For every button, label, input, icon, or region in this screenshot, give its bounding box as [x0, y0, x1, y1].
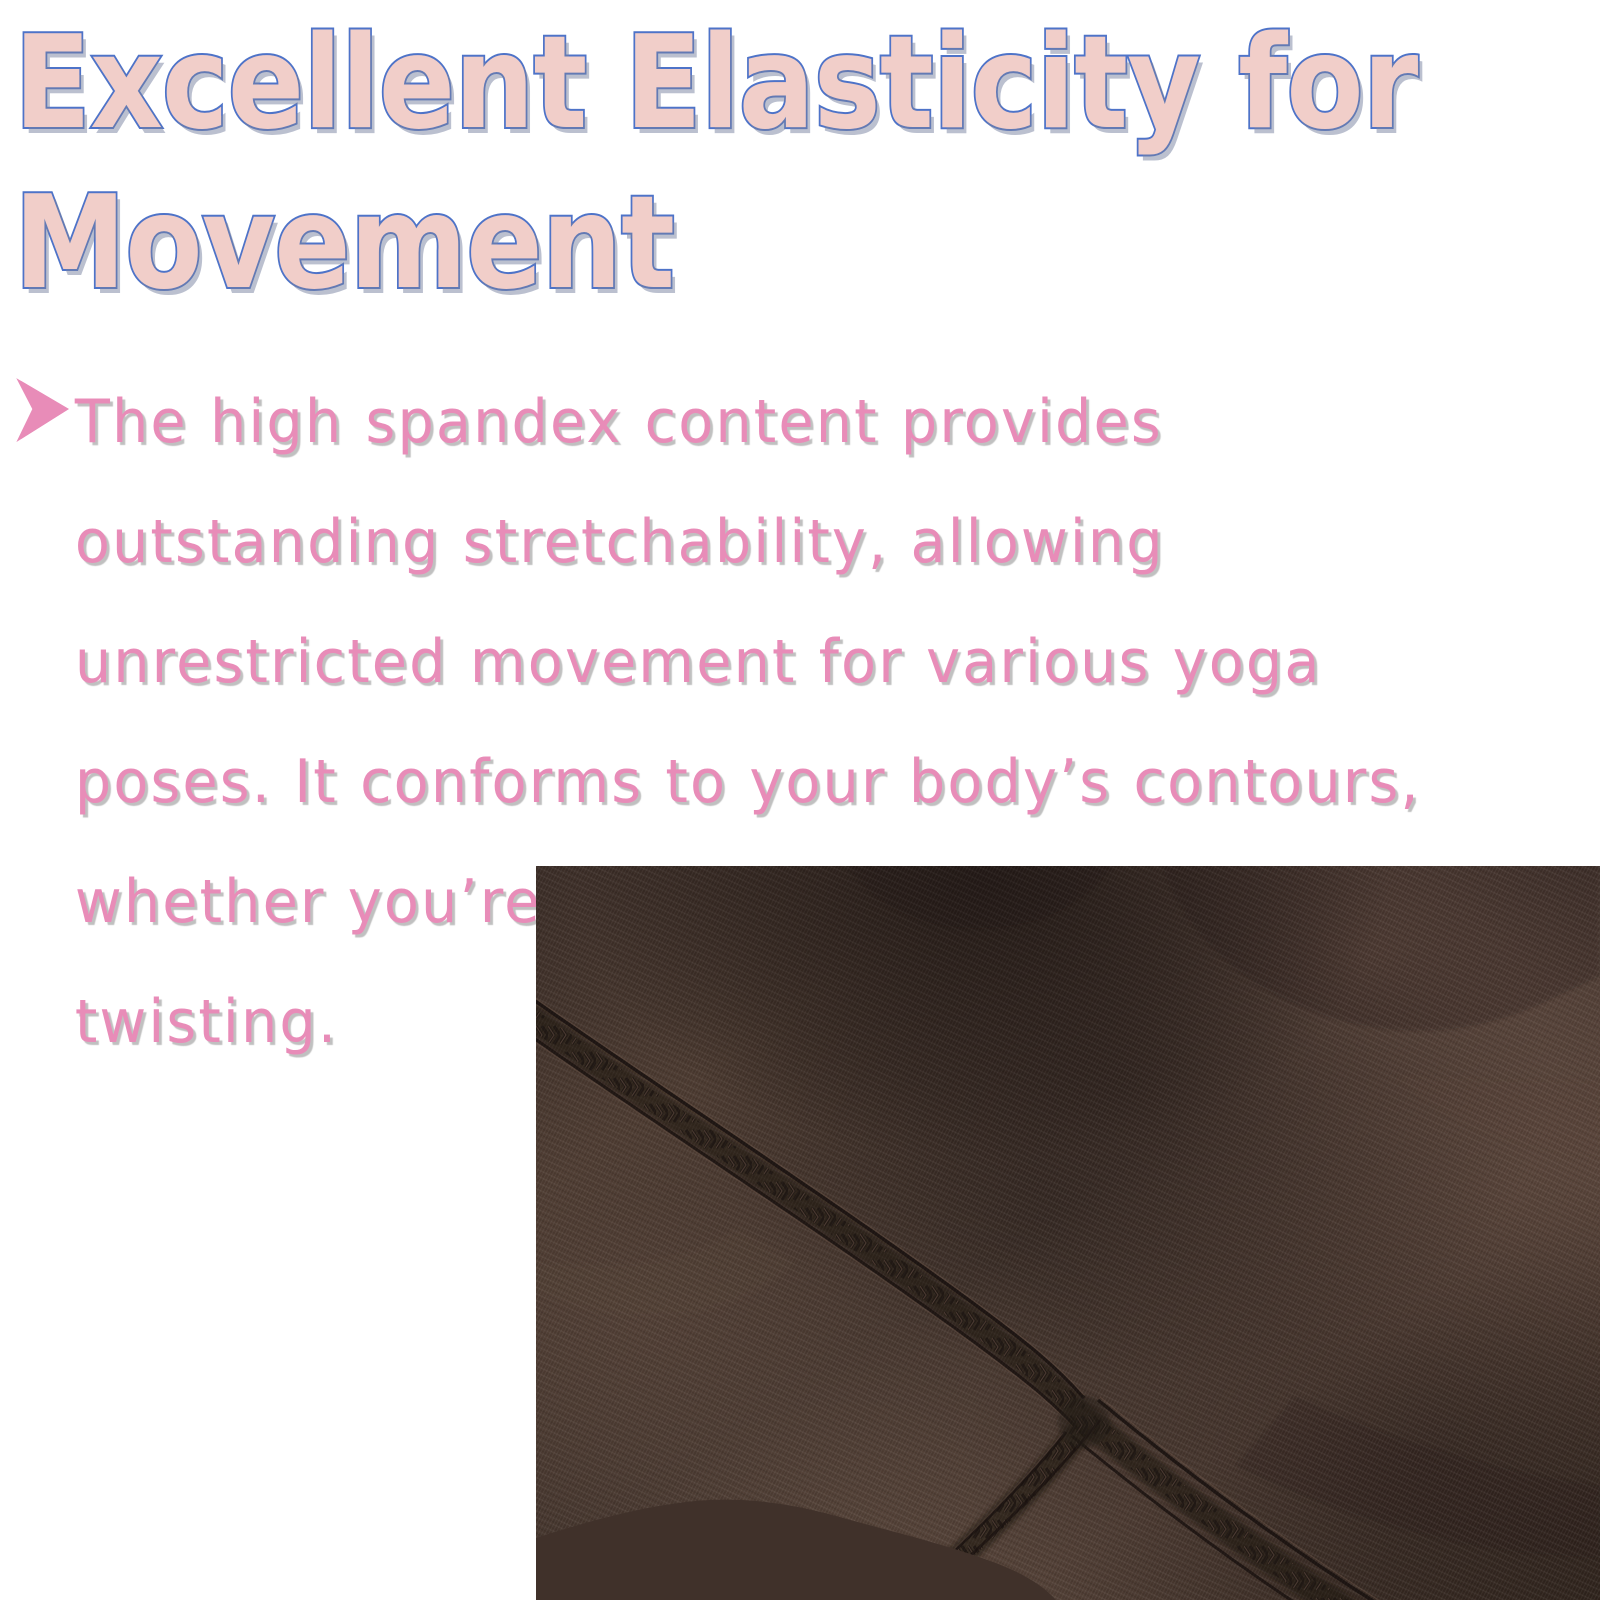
title-line-1: Excellent Elasticity for — [14, 4, 1228, 164]
title-line-2: Movement — [14, 164, 1228, 324]
page-title: Excellent Elasticity for Movement — [14, 4, 1394, 324]
fabric-photo — [536, 866, 1600, 1600]
slide-canvas: Excellent Elasticity for Movement The hi… — [0, 0, 1600, 1600]
